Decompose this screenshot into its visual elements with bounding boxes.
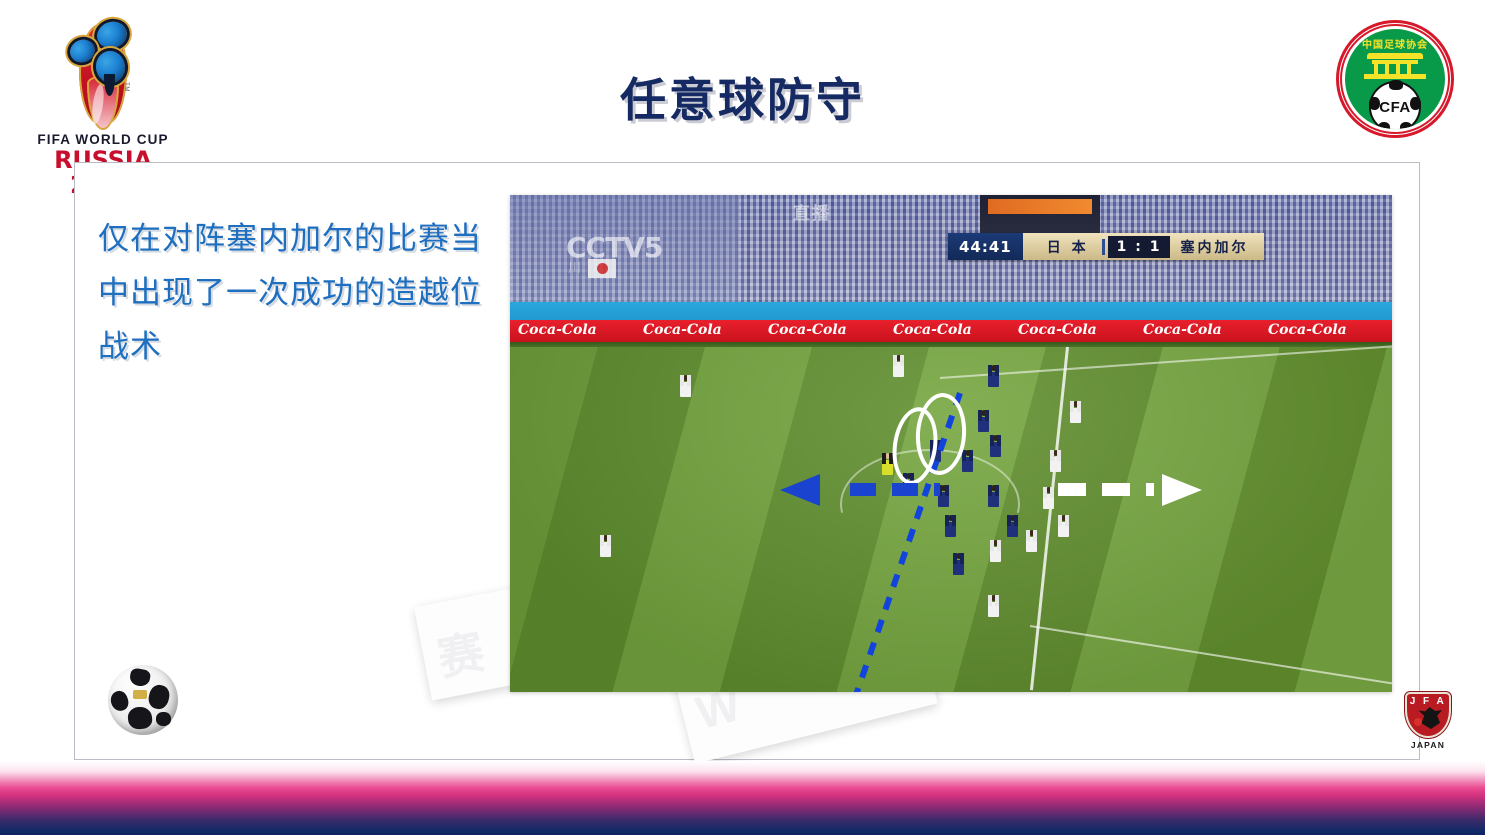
jfa-letters: J F A bbox=[1407, 696, 1449, 707]
player-senegal bbox=[1026, 530, 1037, 563]
player-japan bbox=[988, 365, 999, 398]
ball-patch bbox=[156, 712, 171, 726]
coca-cola-ad: Coca-Cola bbox=[1143, 322, 1222, 338]
press-box-led-panel bbox=[988, 199, 1092, 214]
jfa-red-ball bbox=[1414, 718, 1422, 726]
scoreboard-separator bbox=[1102, 239, 1105, 255]
ball-patch bbox=[127, 706, 153, 730]
cctv-channel-number: 5 bbox=[644, 231, 662, 264]
player-senegal bbox=[1070, 401, 1081, 434]
home-team-name: 日 本 bbox=[1037, 237, 1099, 257]
player-japan bbox=[945, 515, 956, 548]
player-senegal bbox=[988, 595, 999, 628]
white-arrow-head-icon bbox=[1162, 474, 1202, 506]
page-title: 任意球防守 bbox=[0, 64, 1485, 130]
yatagarasu-crow-icon bbox=[1418, 707, 1442, 729]
footer-gradient-bar bbox=[0, 761, 1485, 835]
match-score: 1 : 1 bbox=[1108, 236, 1171, 258]
japan-flag-icon bbox=[588, 259, 616, 278]
player-senegal bbox=[1050, 450, 1061, 483]
away-team-name: 塞内加尔 bbox=[1170, 237, 1258, 257]
cfa-arc-text: 中国足球协会 bbox=[1345, 36, 1445, 51]
cctv-watermark-sub: 川 bbox=[568, 257, 583, 276]
ball-patch bbox=[129, 667, 152, 687]
blue-arrow-head-icon bbox=[780, 474, 820, 506]
coca-cola-ad: Coca-Cola bbox=[643, 322, 722, 338]
referee bbox=[882, 453, 893, 486]
player-senegal bbox=[893, 355, 904, 388]
player-senegal bbox=[600, 535, 611, 568]
japan-flag-sun bbox=[597, 263, 608, 274]
fifa-worldcup-label: FIFA WORLD CUP bbox=[28, 132, 178, 147]
player-japan bbox=[978, 410, 989, 443]
match-clock: 44:41 bbox=[948, 233, 1023, 260]
player-japan bbox=[953, 553, 964, 586]
advertising-board-row: Coca-Cola Coca-Cola Coca-Cola Coca-Cola … bbox=[510, 320, 1392, 342]
match-video-still[interactable]: Coca-Cola Coca-Cola Coca-Cola Coca-Cola … bbox=[510, 195, 1392, 692]
player-senegal bbox=[680, 375, 691, 408]
white-arrow-dashes bbox=[1058, 483, 1154, 496]
player-japan bbox=[988, 485, 999, 518]
player-japan bbox=[962, 450, 973, 483]
presentation-slide: TM FIFA WORLD CUP RUSSIA 2018 中国足球协会 bbox=[0, 0, 1485, 835]
blue-arrow-dashes bbox=[850, 483, 940, 496]
coca-cola-ad: Coca-Cola bbox=[768, 322, 847, 338]
player-japan bbox=[1007, 515, 1018, 548]
match-scoreboard: 44:41 日 本 1 : 1 塞内加尔 bbox=[948, 233, 1264, 260]
player-senegal bbox=[1043, 487, 1054, 520]
ball-patch bbox=[108, 689, 130, 713]
ball-brand-mark bbox=[133, 690, 147, 699]
player-senegal bbox=[1058, 515, 1069, 548]
coca-cola-ad: Coca-Cola bbox=[1018, 322, 1097, 338]
player-senegal bbox=[990, 540, 1001, 573]
soccer-ball-icon bbox=[108, 665, 178, 735]
ball-patch bbox=[146, 683, 171, 711]
decorative-card-text: 赛 bbox=[432, 615, 492, 689]
jfa-shield: J F A bbox=[1405, 692, 1451, 738]
coca-cola-ad: Coca-Cola bbox=[518, 322, 597, 338]
gate-roof bbox=[1367, 53, 1423, 59]
body-paragraph: 仅在对阵塞内加尔的比赛当中出现了一次成功的造越位战术 bbox=[98, 212, 488, 374]
coca-cola-ad: Coca-Cola bbox=[1268, 322, 1347, 338]
scoreboard-teams: 日 本 1 : 1 塞内加尔 bbox=[1023, 233, 1265, 260]
coca-cola-ad: Coca-Cola bbox=[893, 322, 972, 338]
jfa-country-label: JAPAN bbox=[1400, 740, 1456, 750]
jfa-logo: J F A JAPAN bbox=[1400, 692, 1456, 754]
live-badge: 直播 bbox=[793, 199, 831, 224]
player-japan bbox=[990, 435, 1001, 468]
